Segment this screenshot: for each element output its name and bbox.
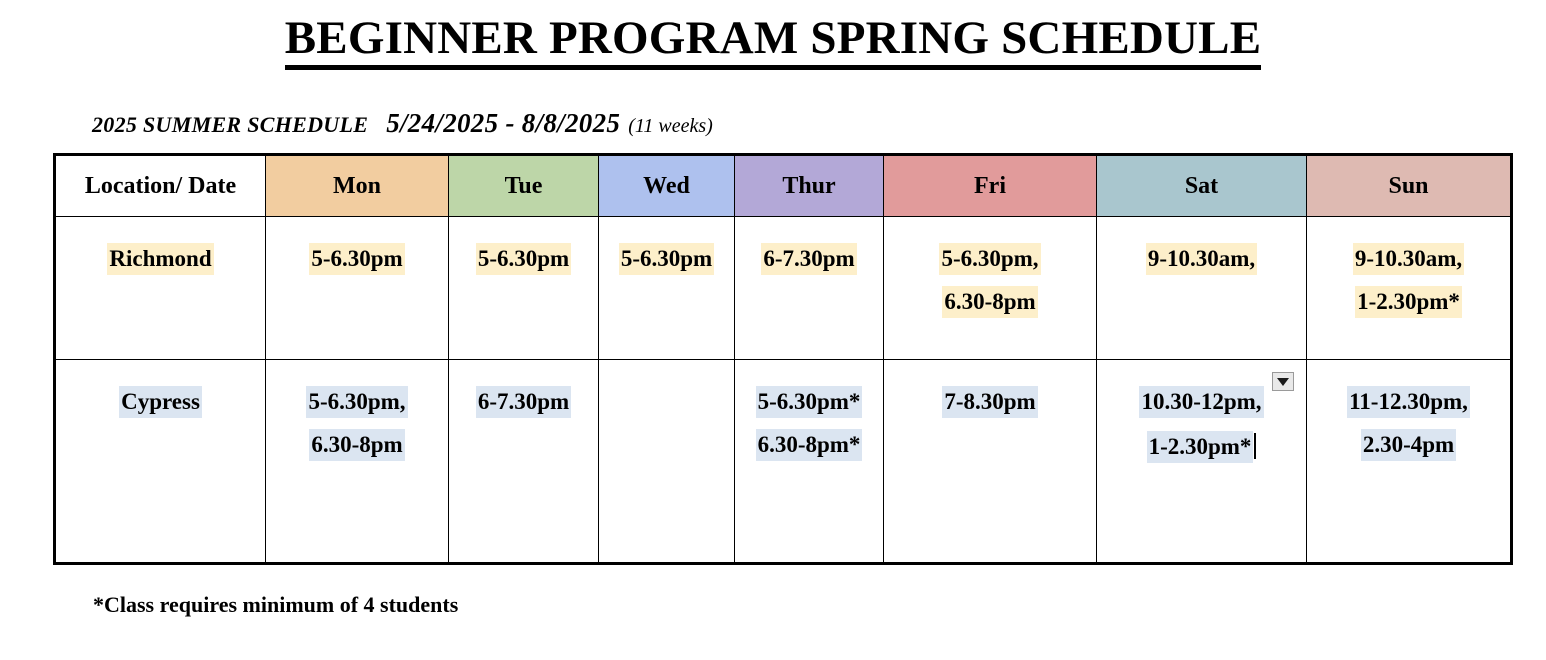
time-slot: 5-6.30pm,: [939, 243, 1040, 275]
cell-cypress-thur[interactable]: 5-6.30pm* 6.30-8pm*: [735, 360, 884, 564]
time-slot: 1-2.30pm*: [1147, 431, 1254, 463]
cell-richmond-thur[interactable]: 6-7.30pm: [735, 217, 884, 360]
cell-location-cypress[interactable]: Cypress: [55, 360, 266, 564]
cell-richmond-tue[interactable]: 5-6.30pm: [449, 217, 599, 360]
text-caret: [1254, 433, 1256, 459]
location-label-cypress: Cypress: [119, 386, 202, 418]
time-slot: 9-10.30am,: [1146, 243, 1257, 275]
subtitle-row: 2025 SUMMER SCHEDULE 5/24/2025 - 8/8/202…: [92, 108, 1546, 139]
time-slot: 6-7.30pm: [761, 243, 856, 275]
time-slot: 2.30-4pm: [1361, 429, 1456, 461]
header-cell-sun: Sun: [1307, 155, 1512, 217]
cell-richmond-sat[interactable]: 9-10.30am,: [1097, 217, 1307, 360]
header-cell-mon: Mon: [266, 155, 449, 217]
time-slot: 6.30-8pm: [309, 429, 404, 461]
page-title: BEGINNER PROGRAM SPRING SCHEDULE: [0, 0, 1546, 70]
header-label-fri: Fri: [974, 173, 1006, 199]
cell-cypress-wed[interactable]: [599, 360, 735, 564]
cell-richmond-fri[interactable]: 5-6.30pm, 6.30-8pm: [884, 217, 1097, 360]
time-slot: 6-7.30pm: [476, 386, 571, 418]
time-slot: 6.30-8pm: [942, 286, 1037, 318]
header-label-tue: Tue: [505, 173, 543, 199]
header-cell-location: Location/ Date: [55, 155, 266, 217]
cell-cypress-mon[interactable]: 5-6.30pm, 6.30-8pm: [266, 360, 449, 564]
cell-richmond-wed[interactable]: 5-6.30pm: [599, 217, 735, 360]
cell-richmond-mon[interactable]: 5-6.30pm: [266, 217, 449, 360]
header-cell-wed: Wed: [599, 155, 735, 217]
header-label-mon: Mon: [333, 173, 381, 199]
header-label-sun: Sun: [1388, 173, 1428, 199]
time-slot: 10.30-12pm,: [1139, 386, 1263, 418]
schedule-table: Location/ Date Mon Tue Wed Thur Fri: [53, 153, 1513, 565]
cell-richmond-sun[interactable]: 9-10.30am, 1-2.30pm*: [1307, 217, 1512, 360]
header-label-thur: Thur: [782, 173, 835, 199]
header-cell-thur: Thur: [735, 155, 884, 217]
subtitle-season: 2025 SUMMER SCHEDULE: [92, 112, 368, 138]
time-slot: 5-6.30pm: [476, 243, 571, 275]
header-cell-sat: Sat: [1097, 155, 1307, 217]
time-slot: 11-12.30pm,: [1347, 386, 1470, 418]
header-label-sat: Sat: [1185, 173, 1218, 199]
header-label-wed: Wed: [643, 173, 690, 199]
location-label-richmond: Richmond: [107, 243, 213, 275]
schedule-table-wrapper: Location/ Date Mon Tue Wed Thur Fri: [53, 153, 1500, 565]
time-slot: 6.30-8pm*: [756, 429, 863, 461]
time-slot: 5-6.30pm*: [756, 386, 863, 418]
cell-cypress-sun[interactable]: 11-12.30pm, 2.30-4pm: [1307, 360, 1512, 564]
chevron-down-icon[interactable]: [1272, 372, 1294, 391]
subtitle-dates: 5/24/2025 - 8/8/2025: [386, 108, 620, 139]
time-slot: 5-6.30pm: [619, 243, 714, 275]
header-cell-tue: Tue: [449, 155, 599, 217]
footnote: *Class requires minimum of 4 students: [93, 592, 1546, 618]
table-header-row: Location/ Date Mon Tue Wed Thur Fri: [55, 155, 1512, 217]
time-slot: 1-2.30pm*: [1355, 286, 1462, 318]
header-cell-fri: Fri: [884, 155, 1097, 217]
cell-location-richmond[interactable]: Richmond: [55, 217, 266, 360]
header-label-location: Location/ Date: [85, 173, 236, 199]
time-slot: 5-6.30pm,: [306, 386, 407, 418]
cell-cypress-fri[interactable]: 7-8.30pm: [884, 360, 1097, 564]
page-title-text: BEGINNER PROGRAM SPRING SCHEDULE: [285, 15, 1262, 70]
cell-cypress-tue[interactable]: 6-7.30pm: [449, 360, 599, 564]
time-slot: 9-10.30am,: [1353, 243, 1464, 275]
time-slot: 7-8.30pm: [942, 386, 1037, 418]
table-row: Richmond 5-6.30pm 5-6.30pm 5-6.30pm: [55, 217, 1512, 360]
subtitle-weeks: (11 weeks): [628, 115, 713, 138]
time-slot: 5-6.30pm: [309, 243, 404, 275]
